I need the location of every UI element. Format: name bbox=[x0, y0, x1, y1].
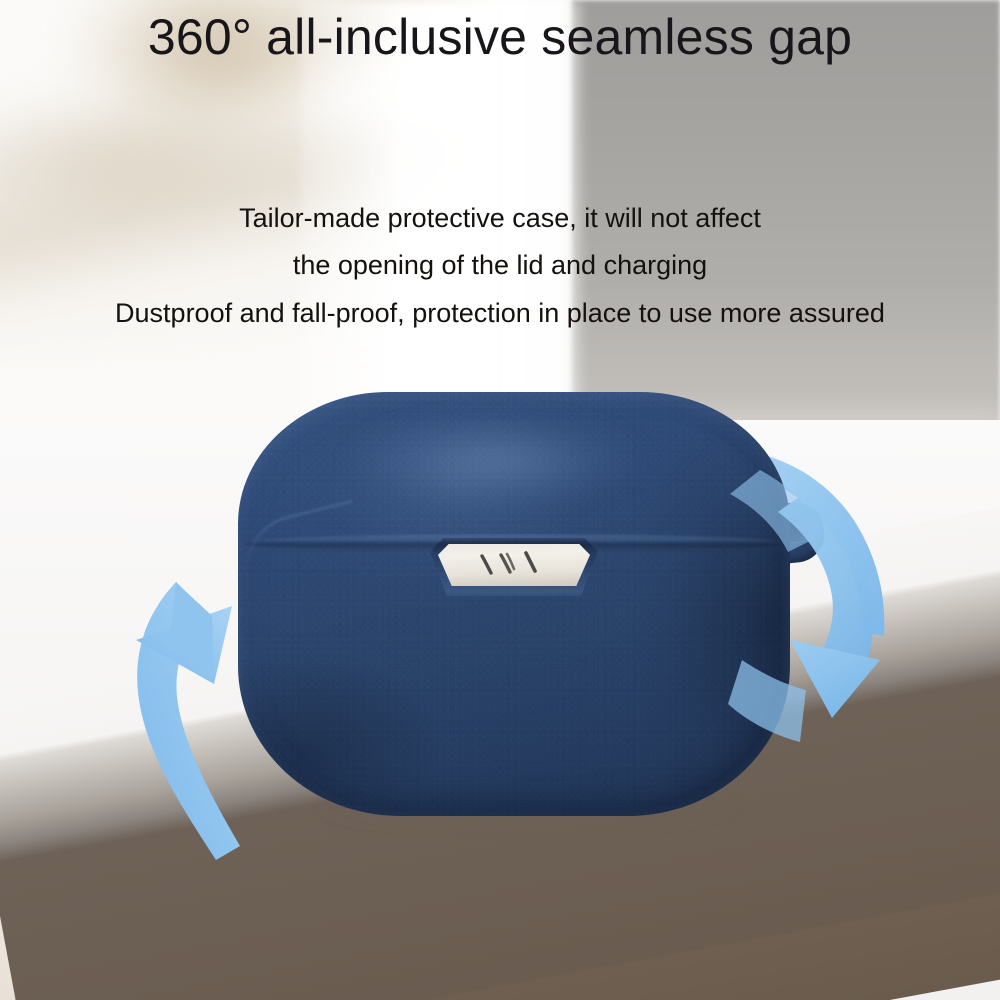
product-case bbox=[238, 392, 794, 820]
body-line-2: the opening of the lid and charging bbox=[0, 250, 1000, 281]
page-title: 360° all-inclusive seamless gap bbox=[0, 8, 1000, 66]
body-line-3: Dustproof and fall-proof, protection in … bbox=[0, 298, 1000, 329]
product-marketing-image: 360° all-inclusive seamless gap Tailor-m… bbox=[0, 0, 1000, 1000]
cutout-inner-marks bbox=[438, 544, 590, 586]
case-lid-highlight bbox=[296, 400, 696, 520]
body-line-1: Tailor-made protective case, it will not… bbox=[0, 203, 1000, 234]
